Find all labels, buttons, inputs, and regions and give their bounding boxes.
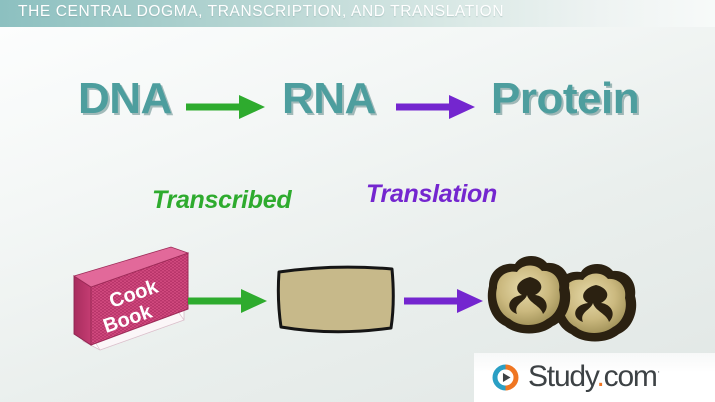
study-com-logo[interactable]: Study.com· bbox=[474, 353, 715, 402]
logo-dot: . bbox=[597, 360, 604, 393]
arrow-cookbook-to-paper-icon bbox=[188, 287, 268, 315]
arrow-dna-to-rna-icon bbox=[186, 93, 266, 121]
play-circle-icon bbox=[490, 362, 521, 393]
logo-brand: Study bbox=[528, 360, 597, 393]
label-transcribed: Transcribed bbox=[152, 186, 291, 215]
slide-canvas: THE CENTRAL DOGMA, TRANSCRIPTION, AND TR… bbox=[0, 0, 715, 402]
bread-slice-front bbox=[488, 256, 570, 334]
arrow-paper-to-bread-icon bbox=[404, 287, 484, 315]
term-rna: RNA bbox=[282, 74, 376, 124]
arrow-rna-to-protein-icon bbox=[396, 93, 476, 121]
logo-wordmark: Study.com· bbox=[528, 362, 660, 392]
label-translation: Translation bbox=[366, 180, 497, 209]
cook-book-illustration: Cook Book bbox=[60, 246, 200, 356]
bread-slices-illustration bbox=[483, 248, 643, 352]
header-bar: THE CENTRAL DOGMA, TRANSCRIPTION, AND TR… bbox=[0, 0, 715, 27]
page-title: THE CENTRAL DOGMA, TRANSCRIPTION, AND TR… bbox=[18, 3, 504, 21]
logo-trademark: · bbox=[657, 366, 661, 378]
term-protein: Protein bbox=[491, 74, 639, 124]
logo-tld: com bbox=[604, 360, 657, 393]
term-dna: DNA bbox=[78, 74, 172, 124]
recipe-paper-illustration bbox=[272, 256, 402, 342]
